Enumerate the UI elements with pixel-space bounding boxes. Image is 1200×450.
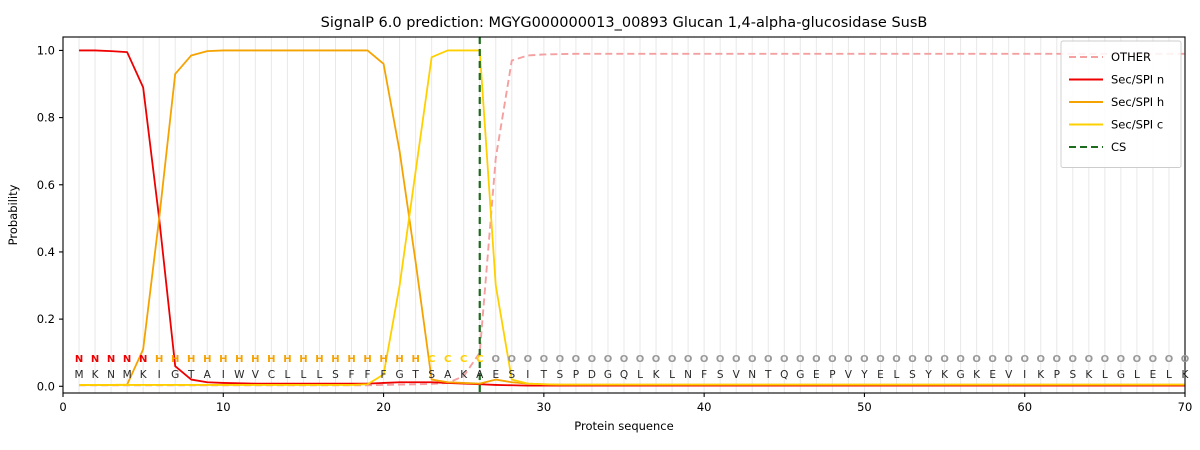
annotation-letter: O [1020,354,1029,365]
annotation-letter: O [572,354,581,365]
sequence-letter: I [526,369,529,381]
x-tick-label: 70 [1178,400,1193,414]
sequence-letter: Y [860,369,868,381]
sequence-letter: I [1023,369,1026,381]
sequence-letter: G [171,369,179,381]
sequence-letter: L [317,369,323,381]
annotation-letter: H [155,354,163,365]
sequence-letter: G [1117,369,1125,381]
annotation-letter: H [395,354,403,365]
annotation-letter: O [508,354,517,365]
sequence-letter: T [187,369,195,381]
annotation-letter: O [1117,354,1126,365]
annotation-letter: H [299,354,307,365]
annotation-letter: O [876,354,885,365]
annotation-letter: O [748,354,757,365]
annotation-letter: H [363,354,371,365]
annotation-letter: O [652,354,661,365]
sequence-letter: S [909,369,916,381]
annotation-letter: H [251,354,259,365]
sequence-letter: K [460,369,468,381]
annotation-letter: O [828,354,837,365]
sequence-letter: T [540,369,548,381]
y-axis-ticks: 0.00.20.40.60.81.0 [37,43,63,393]
protein-sequence-row: MKNMKIGTAIWVCLLLSFFFGTSAKAESITSPDGQLKLNF… [74,369,1189,381]
sequence-letter: L [1102,369,1108,381]
annotation-letter: O [540,354,549,365]
sequence-letter: F [348,369,354,381]
sequence-letter: Q [620,369,628,381]
sequence-letter: V [845,369,853,381]
sequence-letter: L [669,369,675,381]
annotation-letter: H [411,354,419,365]
sequence-letter: T [764,369,772,381]
series-line-sec-spi-c [79,50,1185,385]
sequence-letter: L [1166,369,1172,381]
sequence-letter: Y [924,369,932,381]
sequence-letter: L [894,369,900,381]
annotation-letter: O [1149,354,1158,365]
sequence-letter: S [717,369,724,381]
y-tick-label: 0.2 [37,312,55,326]
sequence-letter: K [653,369,661,381]
x-axis-label: Protein sequence [574,419,673,433]
sequence-letter: G [604,369,612,381]
sequence-letter: E [813,369,820,381]
annotation-letter: O [684,354,693,365]
chart-title: SignalP 6.0 prediction: MGYG000000013_00… [321,15,928,31]
sequence-letter: W [234,369,245,381]
annotation-letter: O [636,354,645,365]
annotation-letter: N [75,354,83,365]
sequence-letter: A [444,369,452,381]
annotation-letter: N [91,354,99,365]
sequence-letter: E [989,369,996,381]
annotation-letter: O [908,354,917,365]
annotation-letter: H [219,354,227,365]
sequence-letter: P [829,369,835,381]
annotation-letter: N [139,354,147,365]
annotation-letter: H [171,354,179,365]
annotation-letter: O [1053,354,1062,365]
sequence-letter: K [1182,369,1190,381]
sequence-letter: S [428,369,435,381]
sequence-letter: E [877,369,884,381]
annotation-letter: O [892,354,901,365]
annotation-letter: O [1004,354,1013,365]
annotation-letter: H [379,354,387,365]
x-tick-label: 40 [697,400,712,414]
x-tick-label: 30 [537,400,552,414]
x-tick-label: 10 [216,400,231,414]
sequence-letter: K [941,369,949,381]
annotation-letter: O [668,354,677,365]
sequence-letter: G [957,369,965,381]
legend-label-sec-spi-n: Sec/SPI n [1111,73,1164,87]
y-tick-label: 0.8 [37,111,55,125]
annotation-letter: C [444,354,451,365]
annotation-letter: C [460,354,467,365]
sequence-letter: V [733,369,741,381]
series-line-sec-spi-n [79,50,1185,385]
legend: OTHERSec/SPI nSec/SPI hSec/SPI cCS [1061,41,1181,168]
legend-label-cs: CS [1111,140,1126,154]
sequence-letter: K [140,369,148,381]
sequence-letter: L [300,369,306,381]
legend-label-sec-spi-h: Sec/SPI h [1111,95,1164,109]
annotation-letter: O [732,354,741,365]
annotation-letters-row: NNNNNHHHHHHHHHHHHHHHHHCCCCOOOOOOOOOOOOOO… [75,354,1189,365]
annotation-letter: O [972,354,981,365]
annotation-letter: O [620,354,629,365]
sequence-letter: G [396,369,404,381]
y-tick-label: 1.0 [37,43,55,57]
sequence-letter: S [1069,369,1076,381]
annotation-letter: O [1085,354,1094,365]
sequence-letter: F [365,369,371,381]
annotation-letter: C [476,354,483,365]
sequence-letter: P [1054,369,1060,381]
y-tick-label: 0.0 [37,379,55,393]
annotation-letter: H [187,354,195,365]
sequence-letter: Q [780,369,788,381]
annotation-letter: H [267,354,275,365]
sequence-letter: N [107,369,115,381]
annotation-letter: O [588,354,597,365]
series-lines [79,50,1185,385]
annotation-letter: H [283,354,291,365]
sequence-letter: A [204,369,212,381]
sequence-letter: P [573,369,579,381]
annotation-letter: O [812,354,821,365]
annotation-letter: O [1069,354,1078,365]
x-tick-label: 0 [59,400,66,414]
y-tick-label: 0.4 [37,245,55,259]
sequence-letter: F [381,369,387,381]
sequence-letter: I [158,369,161,381]
annotation-letter: N [107,354,115,365]
annotation-letter: O [780,354,789,365]
annotation-letter: H [331,354,339,365]
sequence-letter: K [92,369,100,381]
annotation-letter: O [844,354,853,365]
annotation-letter: O [764,354,773,365]
sequence-letter: M [123,369,132,381]
gridlines [79,37,1169,393]
sequence-letter: A [476,369,484,381]
legend-label-other: OTHER [1111,50,1151,64]
y-axis-label: Probability [6,184,20,245]
sequence-letter: K [973,369,981,381]
annotation-letter: O [1036,354,1045,365]
annotation-letter: O [796,354,805,365]
annotation-letter: O [940,354,949,365]
sequence-letter: K [1085,369,1093,381]
x-tick-label: 60 [1017,400,1032,414]
series-line-sec-spi-h [79,50,1185,385]
annotation-letter: H [203,354,211,365]
annotation-letter: O [700,354,709,365]
sequence-letter: E [492,369,499,381]
annotation-letter: H [315,354,323,365]
annotation-letter: O [1133,354,1142,365]
x-axis-ticks: 010203040506070 [59,393,1192,414]
annotation-letter: O [604,354,613,365]
x-tick-label: 50 [857,400,872,414]
sequence-letter: N [684,369,692,381]
annotation-letter: O [988,354,997,365]
sequence-letter: N [748,369,756,381]
sequence-letter: I [222,369,225,381]
annotation-letter: O [492,354,501,365]
sequence-letter: S [508,369,515,381]
x-tick-label: 20 [376,400,391,414]
plot-canvas: SignalP 6.0 prediction: MGYG000000013_00… [0,0,1200,450]
y-tick-label: 0.6 [37,178,55,192]
sequence-letter: L [284,369,290,381]
sequence-letter: T [411,369,419,381]
sequence-letter: L [637,369,643,381]
annotation-letter: O [716,354,725,365]
sequence-letter: G [796,369,804,381]
annotation-letter: O [556,354,565,365]
annotation-letter: H [347,354,355,365]
annotation-letter: O [1165,354,1174,365]
sequence-letter: D [588,369,596,381]
sequence-letter: F [701,369,707,381]
signalp-prediction-figure: SignalP 6.0 prediction: MGYG000000013_00… [0,0,1200,450]
annotation-letter: H [235,354,243,365]
sequence-letter: E [1150,369,1157,381]
legend-label-sec-spi-c: Sec/SPI c [1111,118,1163,132]
annotation-letter: O [860,354,869,365]
annotation-letter: C [428,354,435,365]
sequence-letter: S [332,369,339,381]
chart-title-group: SignalP 6.0 prediction: MGYG000000013_00… [321,15,928,31]
annotation-letter: O [524,354,533,365]
sequence-letter: C [268,369,275,381]
series-line-other [79,54,1185,385]
sequence-letter: K [1037,369,1045,381]
annotation-letter: O [1181,354,1190,365]
annotation-letter: O [924,354,933,365]
annotation-letter: N [123,354,131,365]
sequence-letter: S [557,369,564,381]
annotation-letter: O [1101,354,1110,365]
sequence-letter: L [1134,369,1140,381]
sequence-letter: V [1005,369,1013,381]
sequence-letter: M [74,369,83,381]
annotation-letter: O [956,354,965,365]
sequence-letter: V [252,369,260,381]
